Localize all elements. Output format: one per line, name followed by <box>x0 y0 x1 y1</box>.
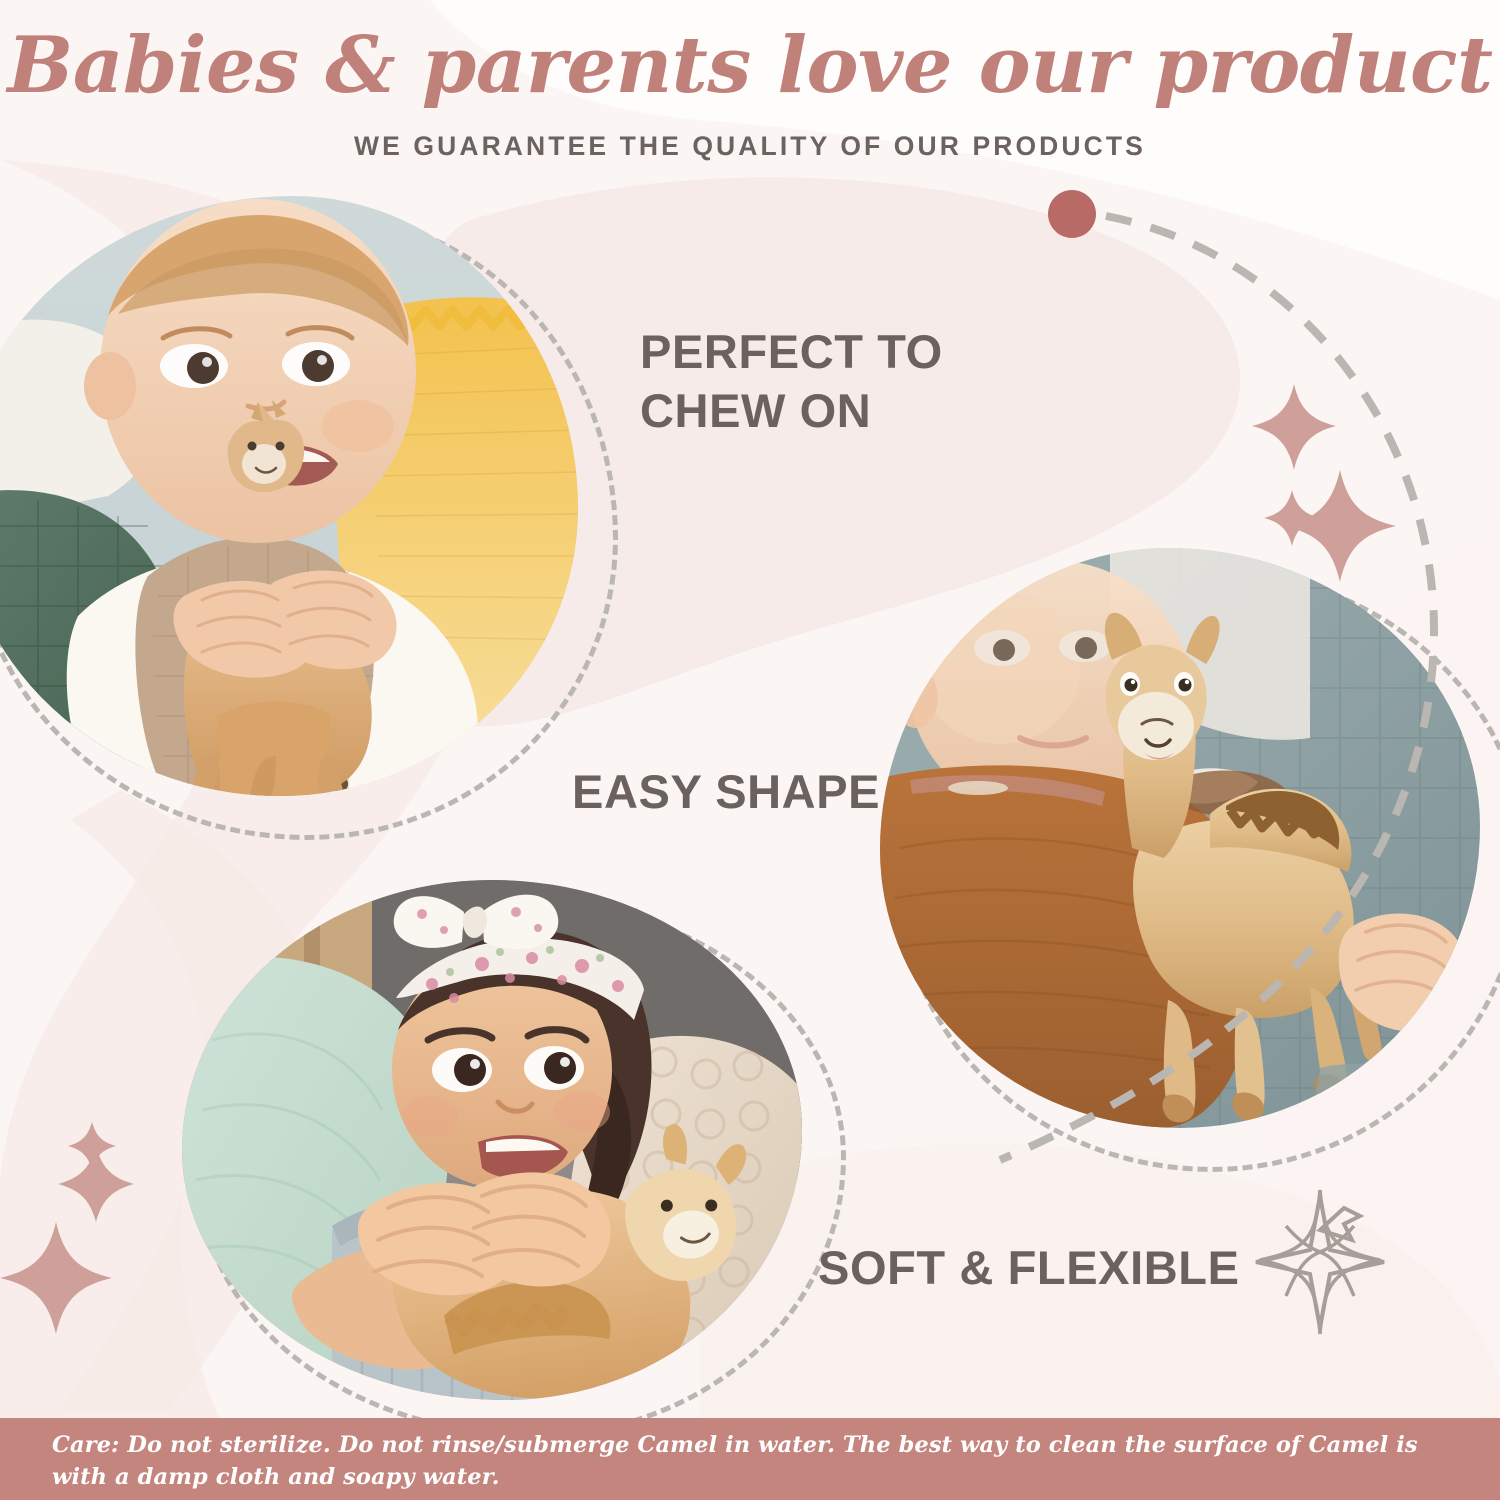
header: Babies & parents love our product WE GUA… <box>0 0 1500 162</box>
star-outline-icon-rays <box>1260 1190 1380 1334</box>
decor-overlay <box>0 0 1500 1500</box>
feature-label-perfect-to-chew-on: PERFECT TO CHEW ON <box>640 322 943 440</box>
feature-label-easy-shape: EASY SHAPE <box>572 762 880 821</box>
dot-icon <box>1048 190 1096 238</box>
page-subtitle: WE GUARANTEE THE QUALITY OF OUR PRODUCTS <box>0 131 1500 162</box>
care-instructions-bar: Care: Do not sterilize. Do not rinse/sub… <box>0 1418 1500 1500</box>
feature-label-line-1: PERFECT TO <box>640 322 943 381</box>
product-infographic: Babies & parents love our product WE GUA… <box>0 0 1500 1500</box>
sparkle-icon <box>0 1122 134 1334</box>
page-title: Babies & parents love our product <box>0 22 1500 109</box>
feature-label-soft-and-flexible: SOFT & FLEXIBLE <box>818 1238 1240 1297</box>
dashed-curve-icon <box>1000 216 1434 1160</box>
care-instructions-text: Care: Do not sterilize. Do not rinse/sub… <box>52 1430 1460 1494</box>
feature-label-line-2: CHEW ON <box>640 381 943 440</box>
